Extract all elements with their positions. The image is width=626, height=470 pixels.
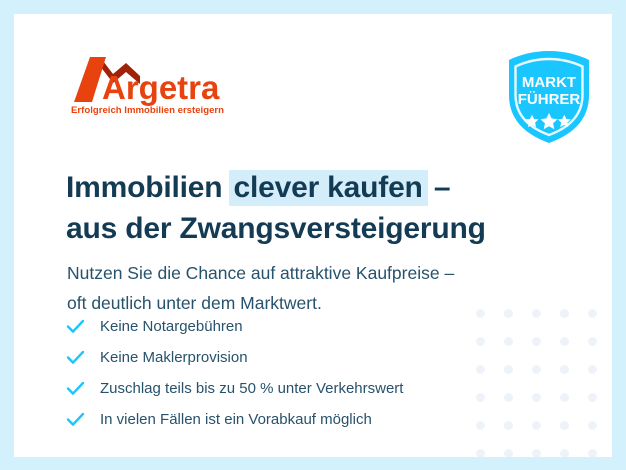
markt-fuehrer-badge: MARKT FÜHRER (503, 49, 595, 145)
headline: Immobilien clever kaufen – aus der Zwang… (66, 167, 586, 249)
dot (560, 337, 569, 346)
dot (588, 337, 597, 346)
dot (588, 421, 597, 430)
list-item-label: Keine Maklerprovision (100, 349, 248, 366)
argetra-logo[interactable]: Argetra Erfolgreich Immobilien ersteiger… (68, 54, 248, 116)
dot (560, 449, 569, 457)
dot (560, 393, 569, 402)
headline-part-1: Immobilien (66, 171, 231, 204)
dot (588, 309, 597, 318)
logo-wordmark: Argetra (102, 69, 220, 106)
dot (588, 393, 597, 402)
check-icon (66, 381, 100, 396)
badge-line-1: MARKT (522, 74, 576, 91)
list-item-label: In vielen Fällen ist ein Vorabkauf mögli… (100, 411, 372, 428)
subtitle-line-1: Nutzen Sie die Chance auf attraktive Kau… (67, 258, 567, 288)
subtitle: Nutzen Sie die Chance auf attraktive Kau… (67, 258, 567, 318)
dot (560, 365, 569, 374)
list-item: Zuschlag teils bis zu 50 % unter Verkehr… (66, 373, 536, 404)
check-icon (66, 350, 100, 365)
headline-line-2: aus der Zwangsversteigerung (66, 208, 586, 249)
badge-line-2: FÜHRER (518, 91, 581, 108)
headline-part-2: – (426, 171, 451, 204)
dot (588, 365, 597, 374)
check-icon (66, 412, 100, 427)
dot (476, 449, 485, 457)
list-item-label: Zuschlag teils bis zu 50 % unter Verkehr… (100, 380, 403, 397)
banner-frame: Argetra Erfolgreich Immobilien ersteiger… (0, 0, 626, 470)
list-item-label: Keine Notargebühren (100, 318, 243, 335)
dot (560, 421, 569, 430)
benefits-list: Keine Notargebühren Keine Maklerprovisio… (66, 311, 536, 435)
logo-tagline: Erfolgreich Immobilien ersteigern (71, 105, 224, 116)
dot (532, 449, 541, 457)
headline-highlight: clever kaufen (229, 170, 428, 206)
list-item: Keine Maklerprovision (66, 342, 536, 373)
dot (504, 449, 513, 457)
banner-card: Argetra Erfolgreich Immobilien ersteiger… (14, 14, 612, 457)
list-item: Keine Notargebühren (66, 311, 536, 342)
dot (588, 449, 597, 457)
check-icon (66, 319, 100, 334)
list-item: In vielen Fällen ist ein Vorabkauf mögli… (66, 404, 536, 435)
